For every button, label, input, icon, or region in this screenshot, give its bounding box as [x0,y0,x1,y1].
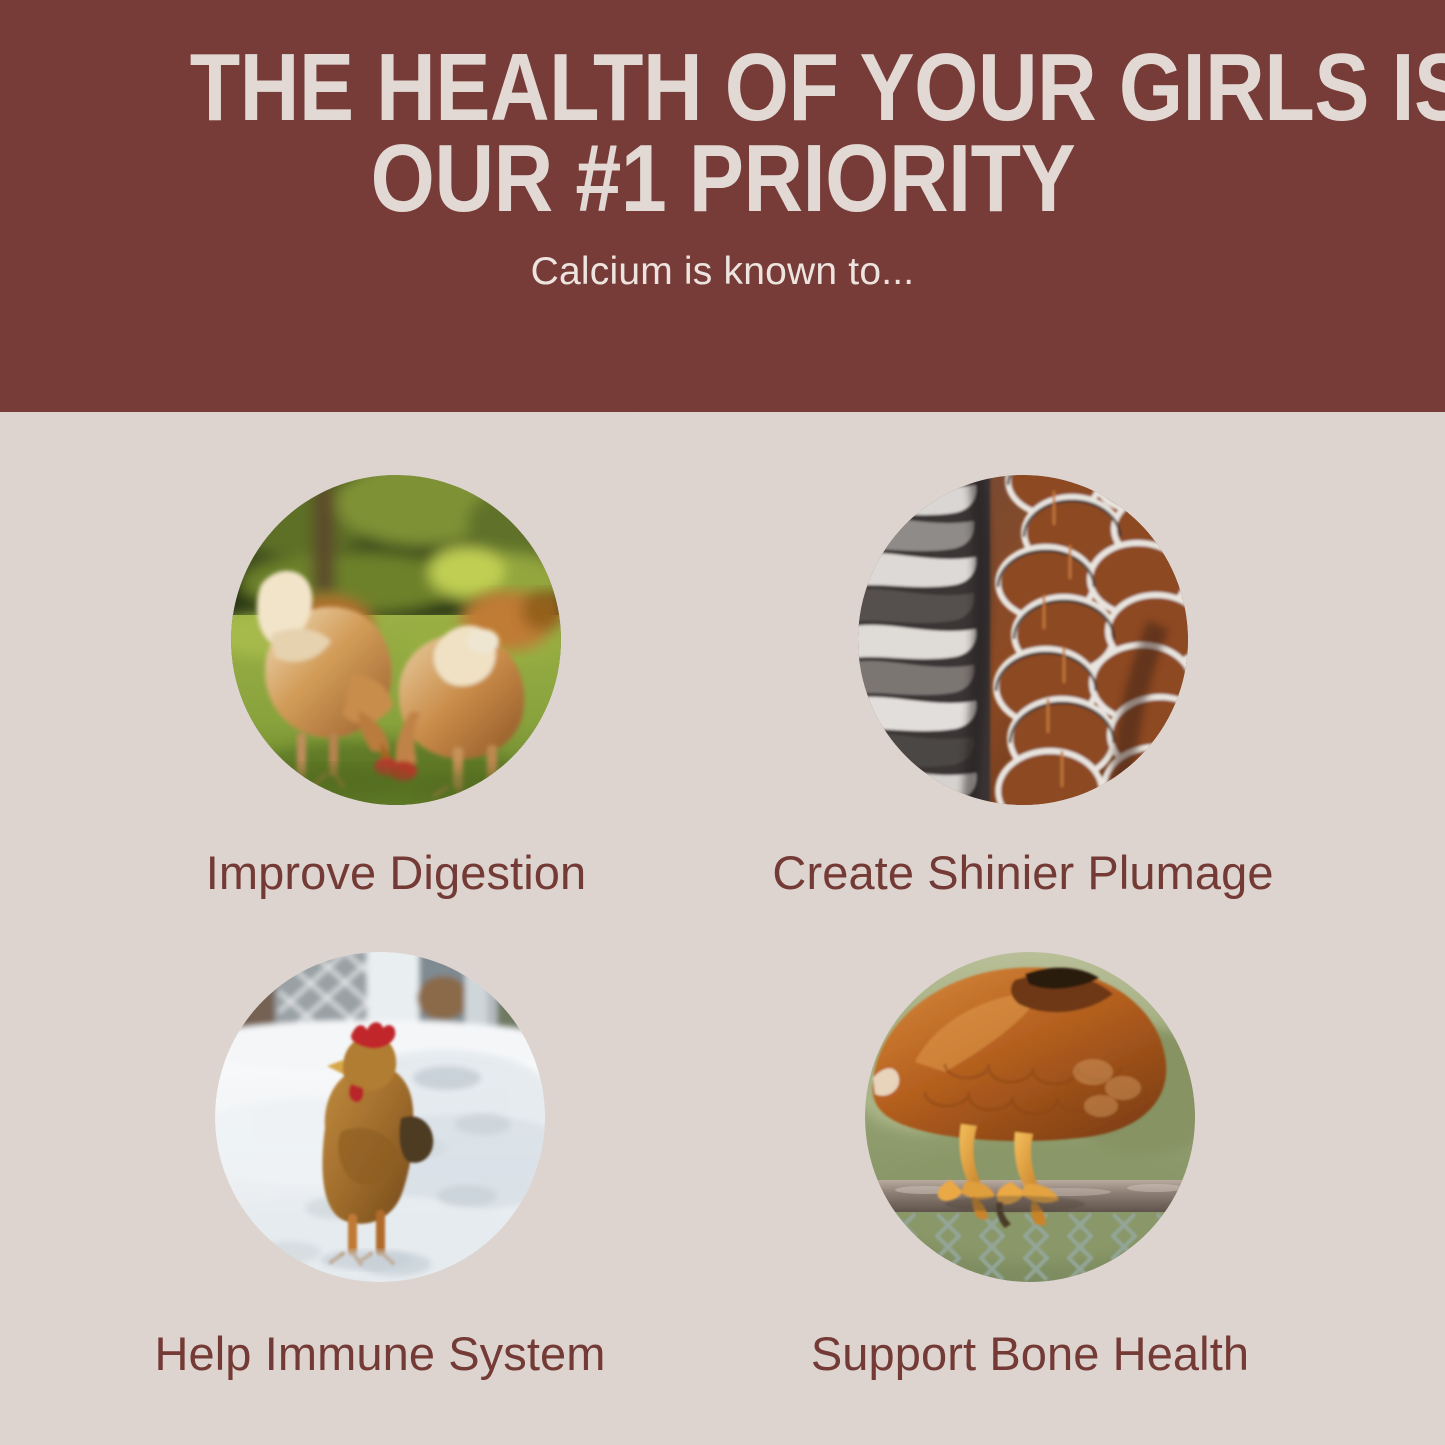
page-title: The Health of Your Girls Is Our #1 Prior… [189,0,1255,224]
photo-hen-on-fence [865,952,1195,1282]
photo-chickens-on-grass [231,475,561,805]
benefit-caption: Support Bone Health [811,1326,1249,1381]
benefit-item-help-immune-system: Help Immune System [50,952,710,1381]
benefit-item-create-shinier-plumage: Create Shinier Plumage [693,475,1353,900]
benefit-caption: Create Shinier Plumage [772,845,1273,900]
benefit-item-support-bone-health: Support Bone Health [700,952,1360,1381]
headline-line-1: The Health of Your Girls Is [189,42,1255,133]
benefit-caption: Help Immune System [154,1326,605,1381]
zigzag-divider [0,362,1445,412]
benefit-item-improve-digestion: Improve Digestion [66,475,726,900]
infographic-poster: The Health of Your Girls Is Our #1 Prior… [0,0,1445,1445]
header-content: The Health of Your Girls Is Our #1 Prior… [0,0,1445,362]
benefit-caption: Improve Digestion [206,845,586,900]
header-banner: The Health of Your Girls Is Our #1 Prior… [0,0,1445,412]
benefits-grid: Improve Digestion [0,430,1445,1430]
headline-line-2: Our #1 Priority [189,133,1255,224]
photo-hen-in-snow [215,952,545,1282]
subheading: Calcium is known to... [531,250,915,294]
photo-feather-closeup [858,475,1188,805]
